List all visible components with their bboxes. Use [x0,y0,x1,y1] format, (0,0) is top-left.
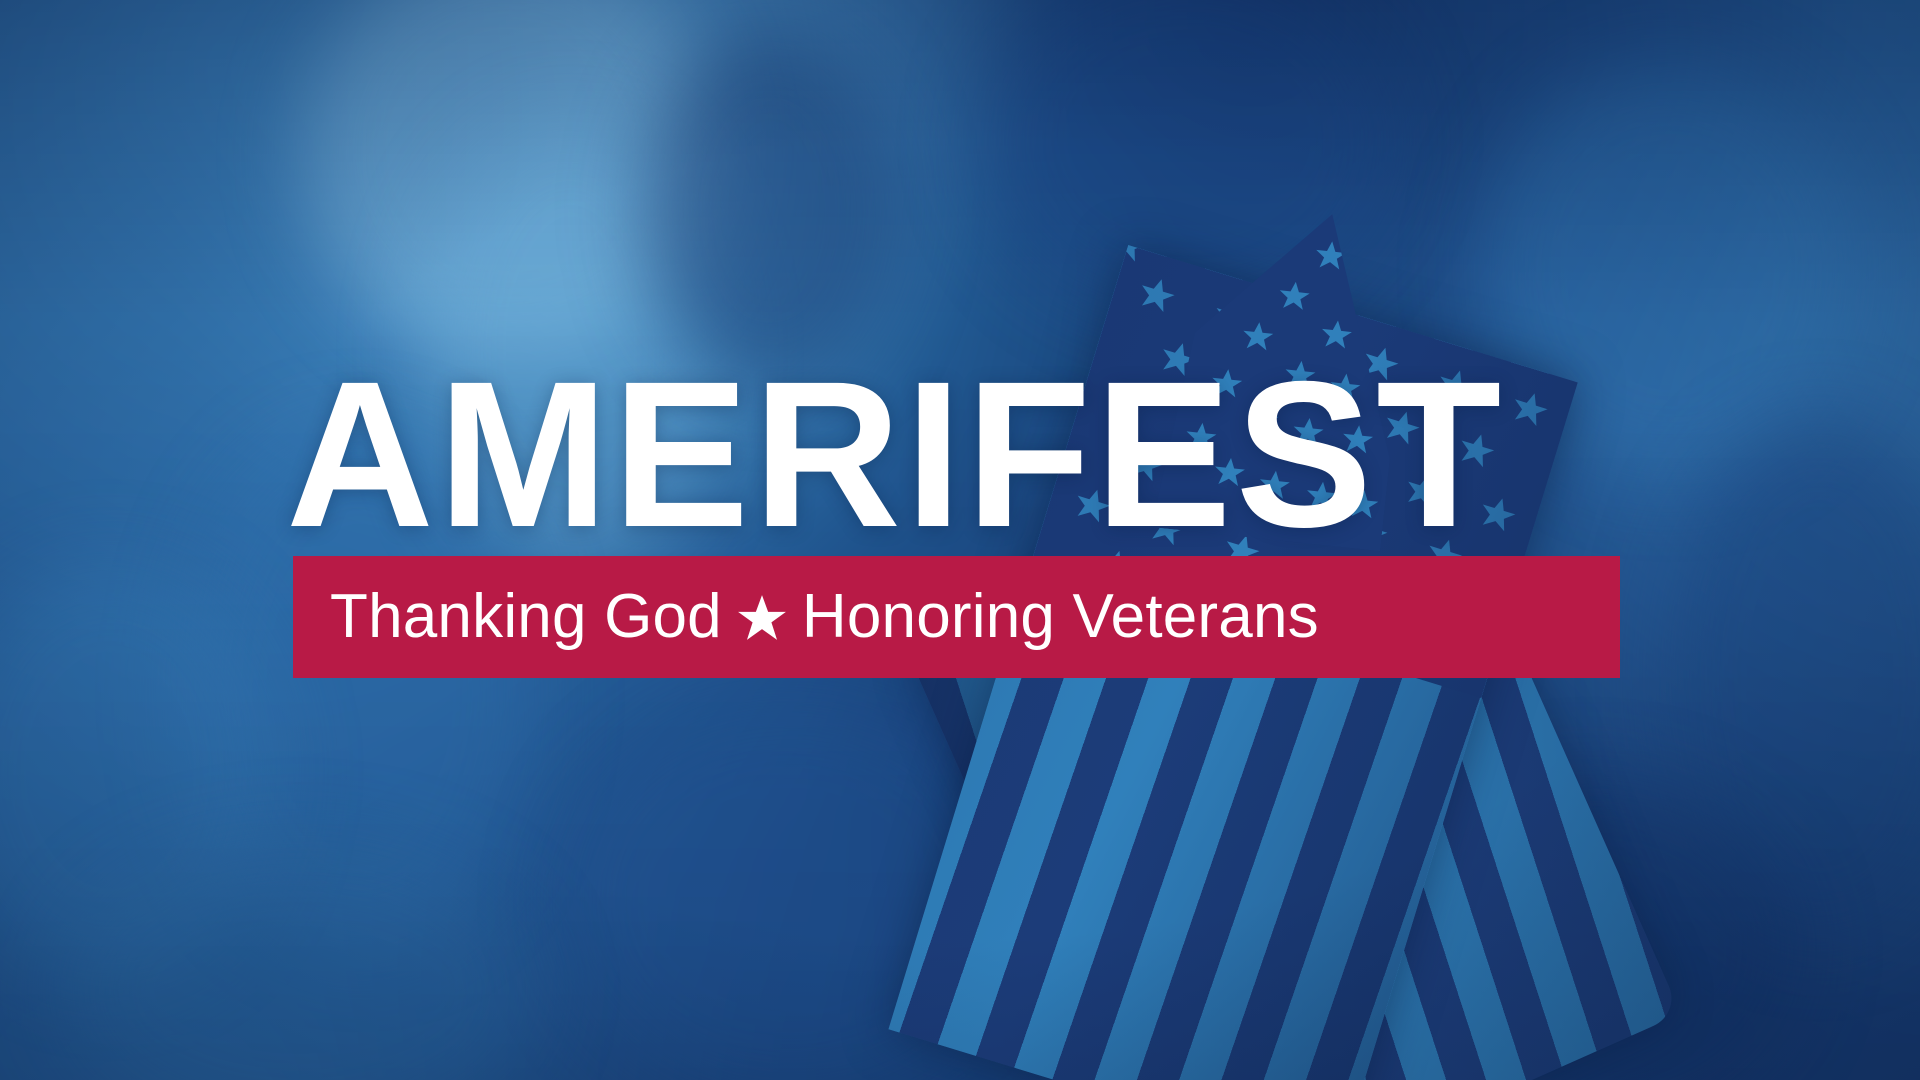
tagline-right: Honoring Veterans [802,586,1319,648]
tagline-left: Thanking God [330,586,722,648]
tagline-banner: Thanking God Honoring Veterans [293,556,1620,678]
tagline-text: Thanking God Honoring Veterans [293,586,1319,648]
poster-canvas: AMERIFEST Thanking God Honoring Veterans [0,0,1920,1080]
star-icon [736,592,788,644]
page-title: AMERIFEST [286,351,1606,559]
